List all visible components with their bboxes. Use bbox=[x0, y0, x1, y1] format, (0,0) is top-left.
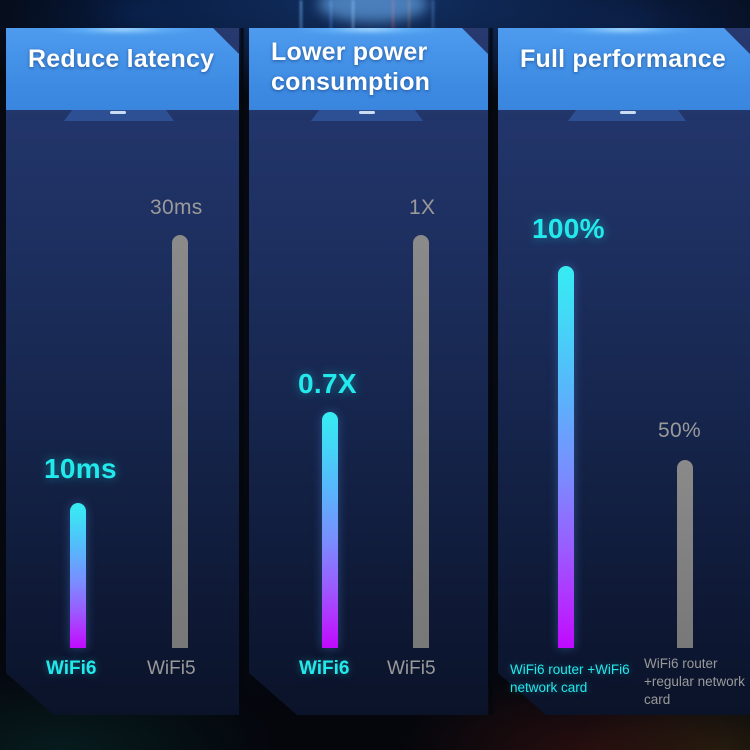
header-tick bbox=[359, 111, 375, 114]
bar-value-label: 30ms bbox=[150, 196, 203, 220]
panel-reduce-latency: Reduce latency 10ms WiFi6 30ms WiFi5 bbox=[6, 28, 239, 715]
header-tick bbox=[620, 111, 636, 114]
panel-lower-power-consumption: Lower power consumption 0.7X WiFi6 1X Wi… bbox=[249, 28, 488, 715]
header-tick bbox=[110, 111, 126, 114]
bar-wifi6 bbox=[70, 503, 86, 648]
bar-value-label: 100% bbox=[532, 213, 605, 245]
panel-divider bbox=[488, 28, 494, 715]
bar-caption: WiFi6 router +WiFi6 network card bbox=[510, 661, 632, 697]
bar-caption: WiFi6 router +regular network card bbox=[644, 655, 750, 709]
panel-header: Lower power consumption bbox=[249, 28, 488, 110]
panel-body bbox=[249, 28, 488, 715]
bar-value-label: 50% bbox=[658, 419, 701, 443]
page-title: Full performance bbox=[520, 44, 736, 74]
bar-wifi5 bbox=[413, 235, 429, 648]
bar-wifi6 bbox=[322, 412, 338, 648]
bar-caption: WiFi5 bbox=[387, 658, 436, 680]
bar-wifi6-router-wifi6-card bbox=[558, 266, 574, 648]
panel-body bbox=[498, 28, 750, 715]
infographic-root: Reduce latency 10ms WiFi6 30ms WiFi5 Low… bbox=[0, 0, 750, 750]
bar-caption: WiFi5 bbox=[147, 658, 196, 680]
bar-wifi6-router-regular-card bbox=[677, 460, 693, 648]
panel-body bbox=[6, 28, 239, 715]
bar-wifi5 bbox=[172, 235, 188, 648]
panel-header: Reduce latency bbox=[6, 28, 239, 110]
panel-full-performance: Full performance 100% WiFi6 router +WiFi… bbox=[498, 28, 750, 715]
page-title: Reduce latency bbox=[28, 44, 225, 74]
bar-caption: WiFi6 bbox=[299, 658, 350, 680]
panel-header: Full performance bbox=[498, 28, 750, 110]
bar-value-label: 10ms bbox=[44, 453, 117, 485]
panel-divider bbox=[239, 28, 245, 715]
page-title: Lower power consumption bbox=[271, 37, 474, 97]
bar-value-label: 0.7X bbox=[298, 368, 357, 400]
bar-caption: WiFi6 bbox=[46, 658, 97, 680]
bar-value-label: 1X bbox=[409, 196, 435, 220]
